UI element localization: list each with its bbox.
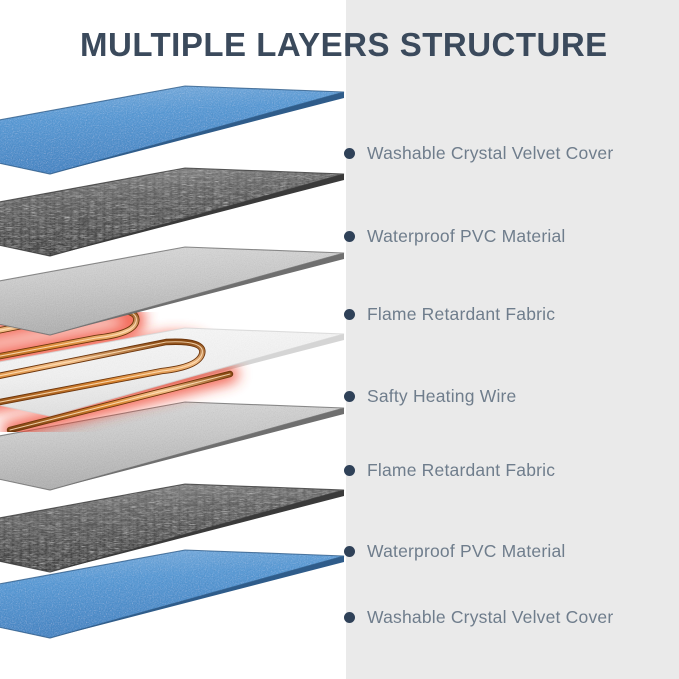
callout-row-3: Flame Retardant Fabric — [344, 303, 555, 325]
callout-row-5: Flame Retardant Fabric — [344, 459, 555, 481]
callout-row-1: Washable Crystal Velvet Cover — [344, 142, 613, 164]
callout-label-6: Waterproof PVC Material — [367, 541, 565, 562]
bullet-dot-icon — [344, 612, 355, 623]
callout-label-4: Safty Heating Wire — [367, 386, 517, 407]
callout-label-2: Waterproof PVC Material — [367, 226, 565, 247]
layer-structure-infographic: MULTIPLE LAYERS STRUCTURE — [0, 0, 679, 679]
bullet-dot-icon — [344, 391, 355, 402]
bullet-dot-icon — [344, 546, 355, 557]
bullet-dot-icon — [344, 231, 355, 242]
page-title: MULTIPLE LAYERS STRUCTURE — [80, 26, 640, 64]
callout-row-4: Safty Heating Wire — [344, 385, 517, 407]
callout-label-1: Washable Crystal Velvet Cover — [367, 143, 613, 164]
bullet-dot-icon — [344, 465, 355, 476]
bullet-dot-icon — [344, 309, 355, 320]
callout-label-5: Flame Retardant Fabric — [367, 460, 555, 481]
callout-row-6: Waterproof PVC Material — [344, 540, 565, 562]
callout-row-2: Waterproof PVC Material — [344, 225, 565, 247]
bullet-dot-icon — [344, 148, 355, 159]
callout-row-7: Washable Crystal Velvet Cover — [344, 606, 613, 628]
callout-label-3: Flame Retardant Fabric — [367, 304, 555, 325]
callout-label-7: Washable Crystal Velvet Cover — [367, 607, 613, 628]
callout-list: Washable Crystal Velvet Cover Waterproof… — [0, 0, 679, 679]
